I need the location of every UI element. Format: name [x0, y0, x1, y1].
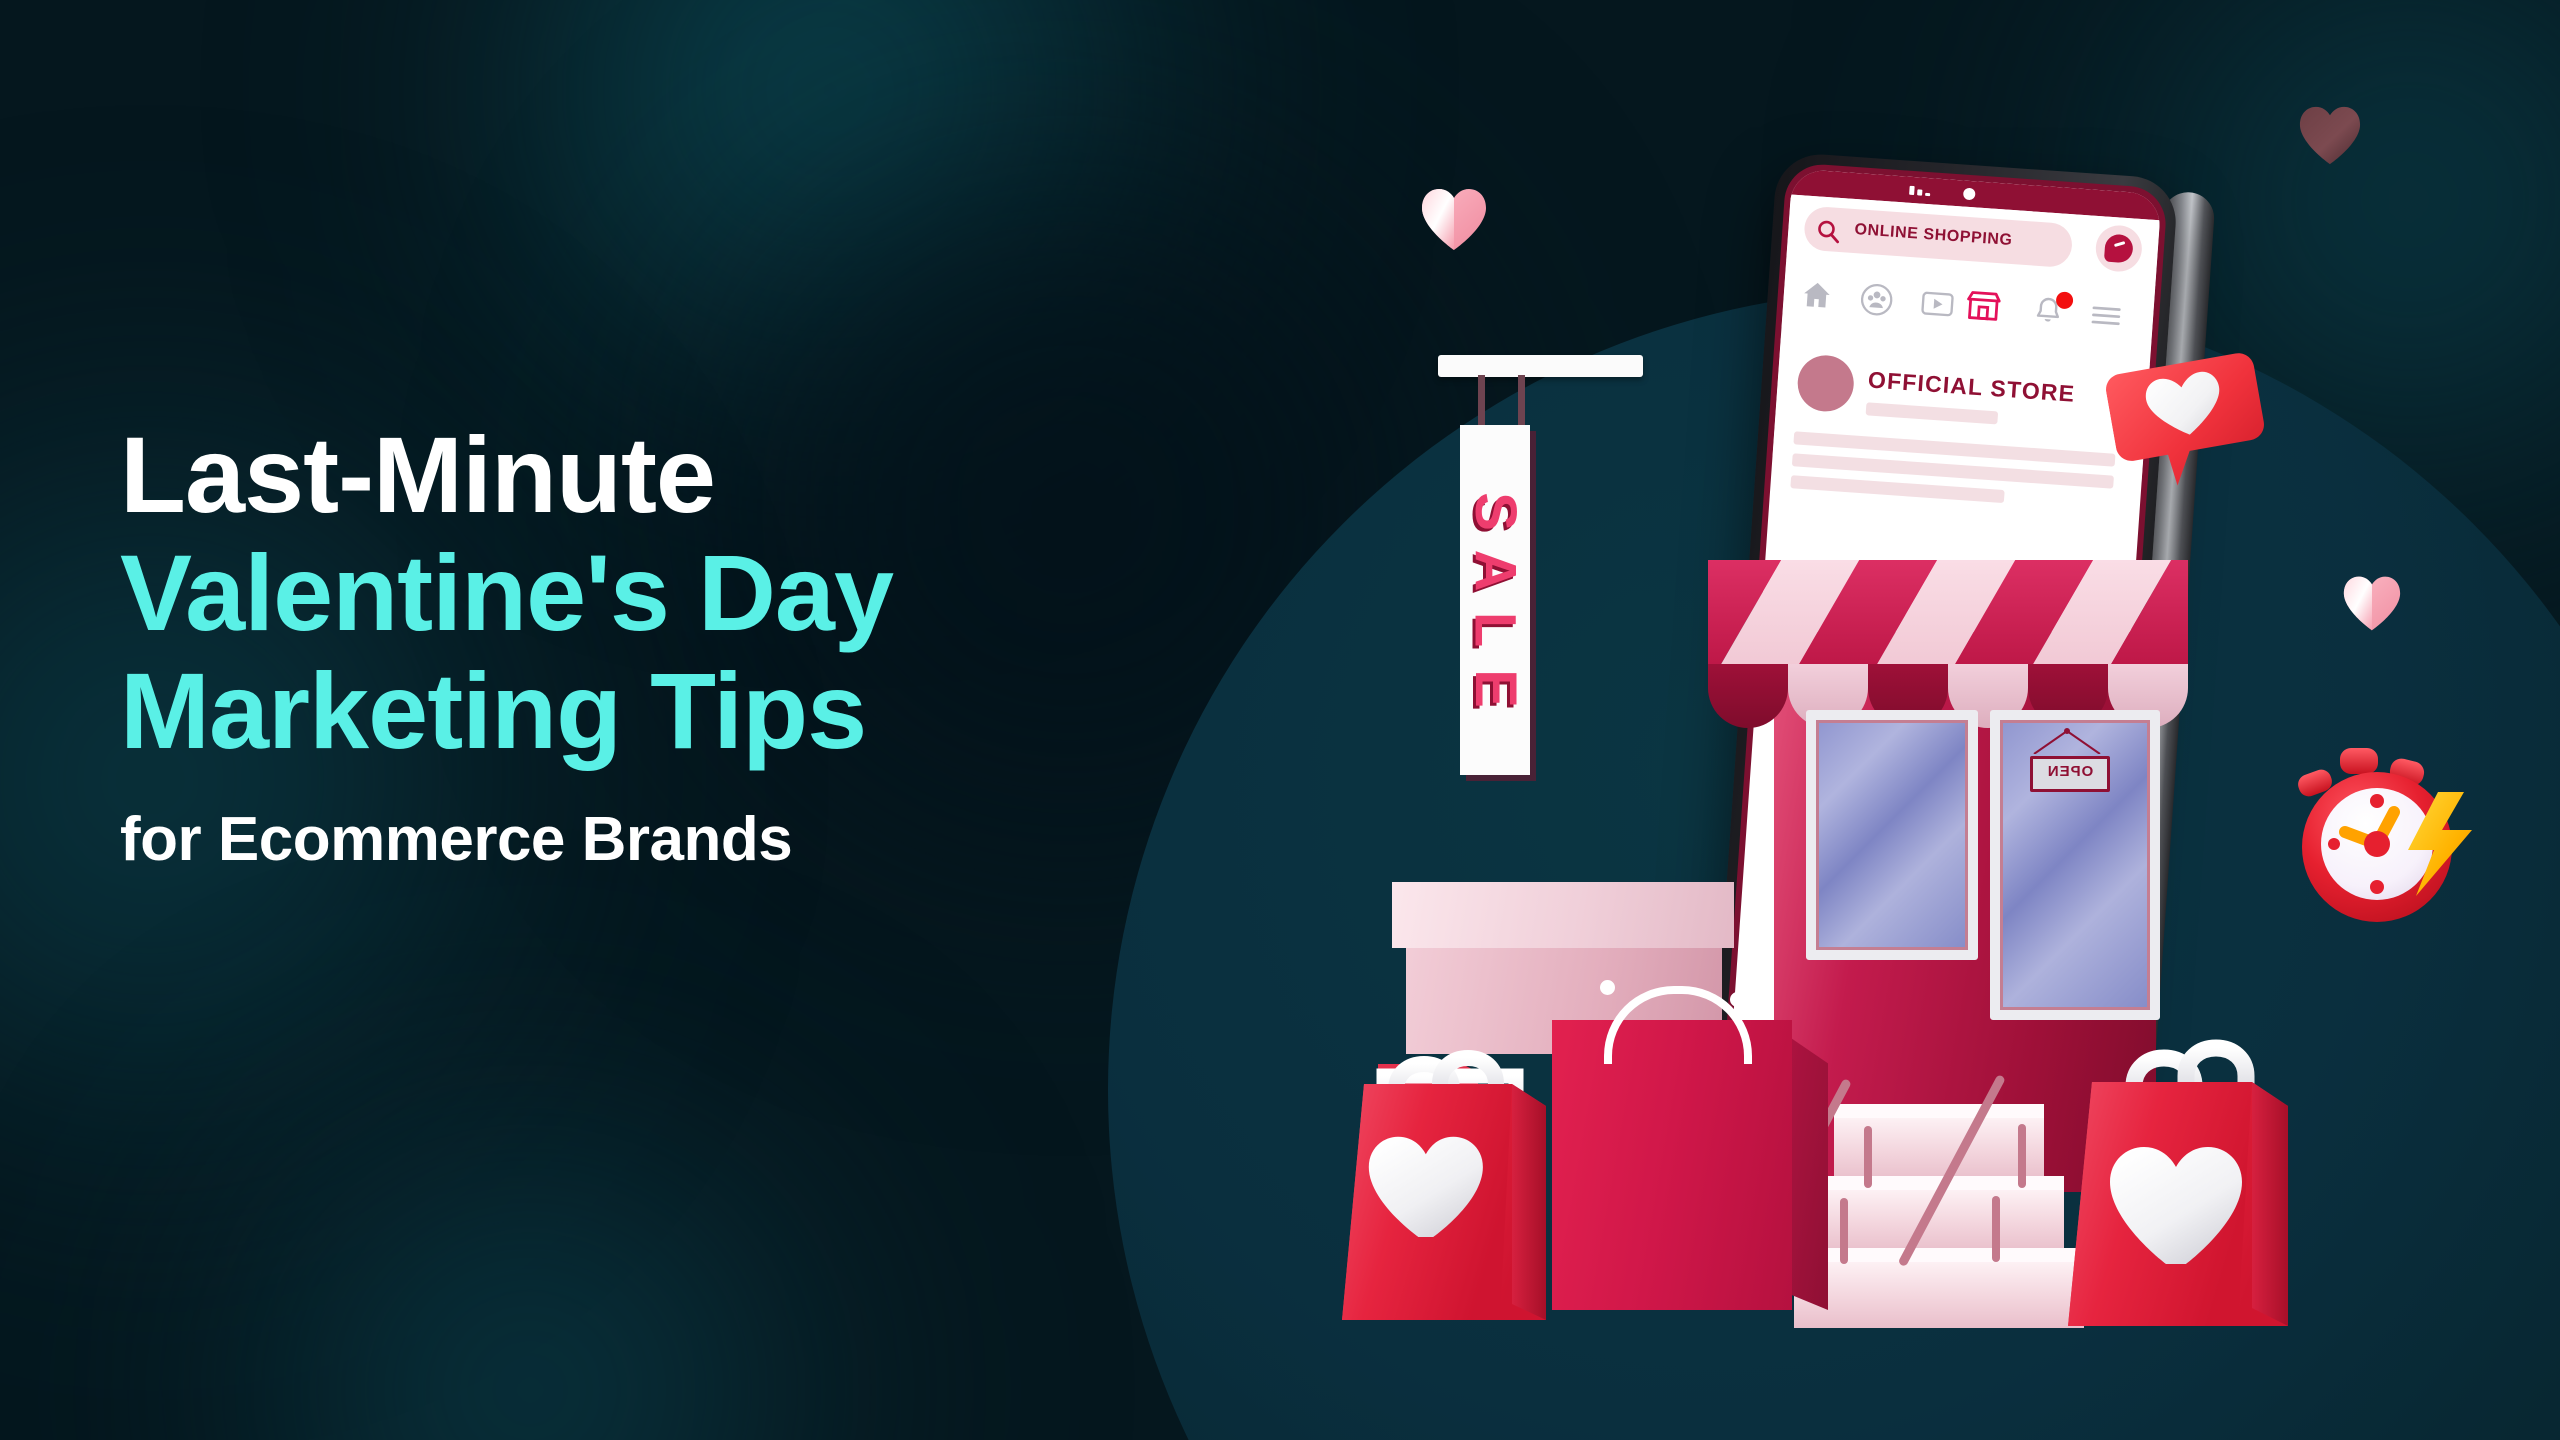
groups-icon[interactable]	[1859, 282, 1895, 318]
headline-line-3: Marketing Tips	[120, 656, 1300, 766]
headline-line-2: Valentine's Day	[120, 538, 1300, 648]
signal-bars-icon	[1925, 193, 1930, 196]
home-icon[interactable]	[1799, 277, 1835, 313]
placeholder-line	[1866, 402, 1999, 424]
gift-box-lid	[1392, 882, 1734, 948]
sale-letter: S	[1467, 492, 1522, 531]
headline-subline: for Ecommerce Brands	[120, 808, 1300, 871]
front-camera-dot	[1963, 188, 1976, 201]
signal-bars-icon	[1909, 186, 1915, 195]
store-steps	[1792, 1100, 2102, 1340]
open-sign-rope	[2030, 728, 2104, 754]
open-sign: OPEN	[2030, 756, 2110, 792]
menu-hamburger-icon[interactable]	[2088, 298, 2124, 334]
floating-heart-3	[2340, 574, 2404, 632]
stopwatch-urgency-icon	[2262, 742, 2492, 932]
shopping-bag-heart-left	[1340, 1012, 1592, 1320]
open-sign-label: OPEN	[2033, 763, 2107, 780]
store-name: OFFICIAL STORE	[1867, 366, 2076, 407]
signal-bars-icon	[1917, 189, 1922, 195]
headline-line-1: Last-Minute	[120, 420, 1300, 530]
store-awning	[1708, 560, 2188, 678]
banner-canvas: Last-Minute Valentine's Day Marketing Ti…	[0, 0, 2560, 1440]
sale-sign-rope	[1518, 375, 1525, 430]
video-icon[interactable]	[1918, 286, 1956, 322]
search-icon	[1816, 218, 1842, 244]
messenger-icon[interactable]	[2094, 224, 2143, 273]
sale-letter: A	[1467, 550, 1522, 592]
marketplace-store-icon[interactable]	[1962, 285, 2005, 328]
shopping-bag-heart-right	[2062, 1006, 2330, 1326]
floating-heart-2	[2296, 104, 2364, 166]
sale-sign-letters: S A L E	[1460, 425, 1530, 775]
avatar	[1796, 354, 1856, 414]
heart-like-notification	[2101, 335, 2283, 501]
placeholder-line	[1790, 475, 2004, 503]
sale-letter: E	[1467, 669, 1522, 708]
floating-heart-1	[1418, 186, 1490, 252]
sale-hanging-sign: S A L E	[1430, 333, 1680, 803]
headline-block: Last-Minute Valentine's Day Marketing Ti…	[120, 420, 1300, 872]
sale-sign-bar	[1438, 355, 1643, 377]
sale-sign-board: S A L E	[1460, 425, 1530, 775]
notification-badge	[2056, 291, 2074, 309]
sale-sign-rope	[1478, 375, 1485, 430]
sale-letter: L	[1467, 612, 1522, 647]
store-window	[1806, 710, 1978, 960]
store-profile-header: OFFICIAL STORE	[1772, 338, 2149, 484]
